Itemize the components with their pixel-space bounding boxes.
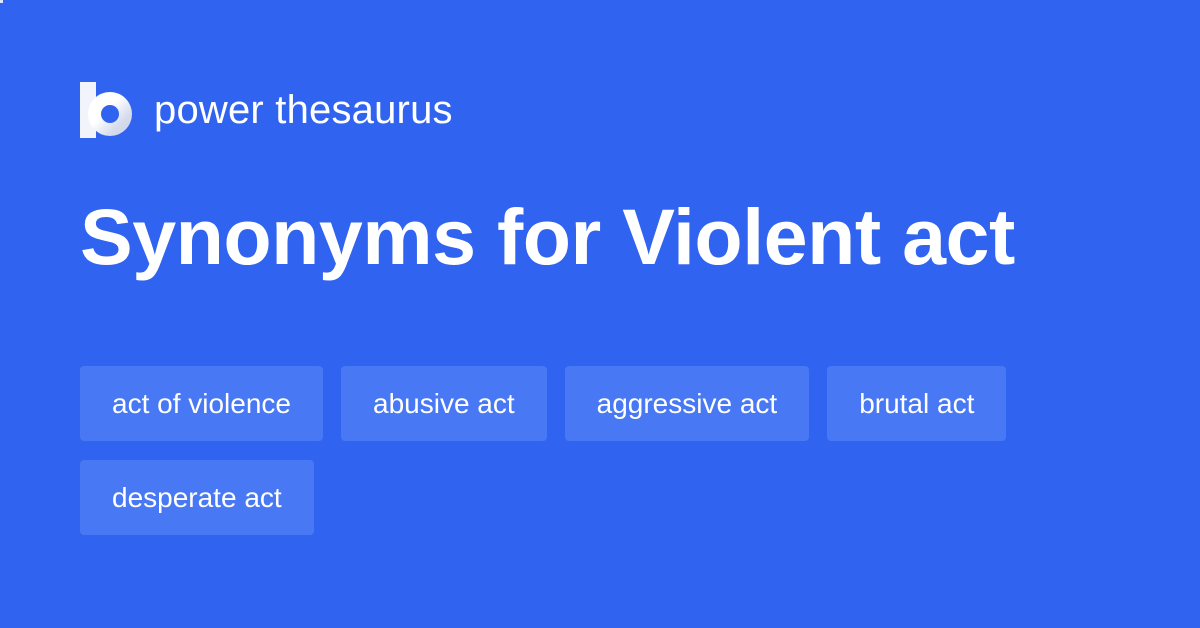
- synonym-chip-list: act of violence abusive act aggressive a…: [80, 366, 1120, 535]
- page-title: Synonyms for Violent act: [80, 196, 1015, 279]
- corner-artifact: [0, 0, 3, 3]
- power-thesaurus-og-card: power thesaurus Synonyms for Violent act…: [0, 0, 1200, 628]
- brand-name: power thesaurus: [154, 90, 453, 130]
- brand-logo[interactable]: power thesaurus: [80, 82, 453, 138]
- synonym-chip[interactable]: brutal act: [827, 366, 1006, 441]
- synonym-chip[interactable]: abusive act: [341, 366, 547, 441]
- synonym-chip[interactable]: desperate act: [80, 460, 314, 535]
- synonym-chip[interactable]: aggressive act: [565, 366, 810, 441]
- power-thesaurus-b-logo-icon: [80, 82, 132, 138]
- logo-hole: [101, 105, 119, 123]
- synonym-chip[interactable]: act of violence: [80, 366, 323, 441]
